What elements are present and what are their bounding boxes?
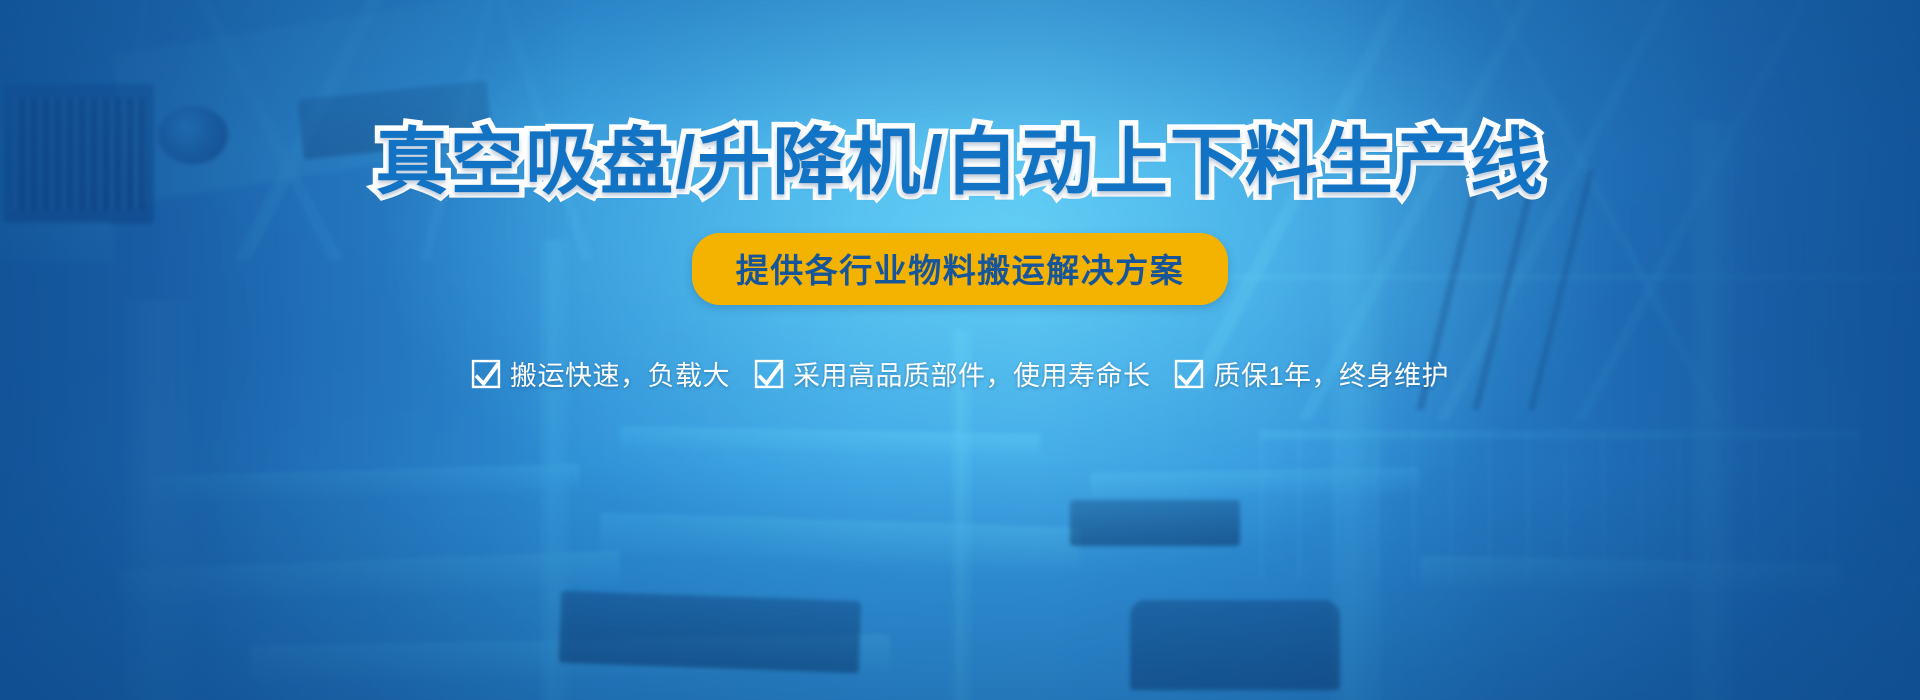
hero-banner: 真空吸盘/升降机/自动上下料生产线 提供各行业物料搬运解决方案 搬运快速，负载大… (0, 0, 1920, 700)
feature-label: 采用高品质部件，使用寿命长 (793, 354, 1151, 393)
banner-content: 真空吸盘/升降机/自动上下料生产线 提供各行业物料搬运解决方案 搬运快速，负载大… (0, 0, 1920, 700)
checkbox-checked-icon (1174, 359, 1204, 389)
banner-title: 真空吸盘/升降机/自动上下料生产线 (375, 126, 1545, 199)
feature-list: 搬运快速，负载大 采用高品质部件，使用寿命长 质保1年，终身维护 (471, 354, 1449, 393)
feature-label: 搬运快速，负载大 (510, 354, 730, 393)
feature-label: 质保1年，终身维护 (1213, 354, 1449, 393)
feature-item: 采用高品质部件，使用寿命长 (754, 354, 1151, 393)
feature-item: 质保1年，终身维护 (1174, 354, 1449, 393)
feature-item: 搬运快速，负载大 (471, 354, 730, 393)
checkbox-checked-icon (754, 359, 784, 389)
checkbox-checked-icon (471, 359, 501, 389)
banner-subtitle-pill: 提供各行业物料搬运解决方案 (692, 233, 1229, 305)
